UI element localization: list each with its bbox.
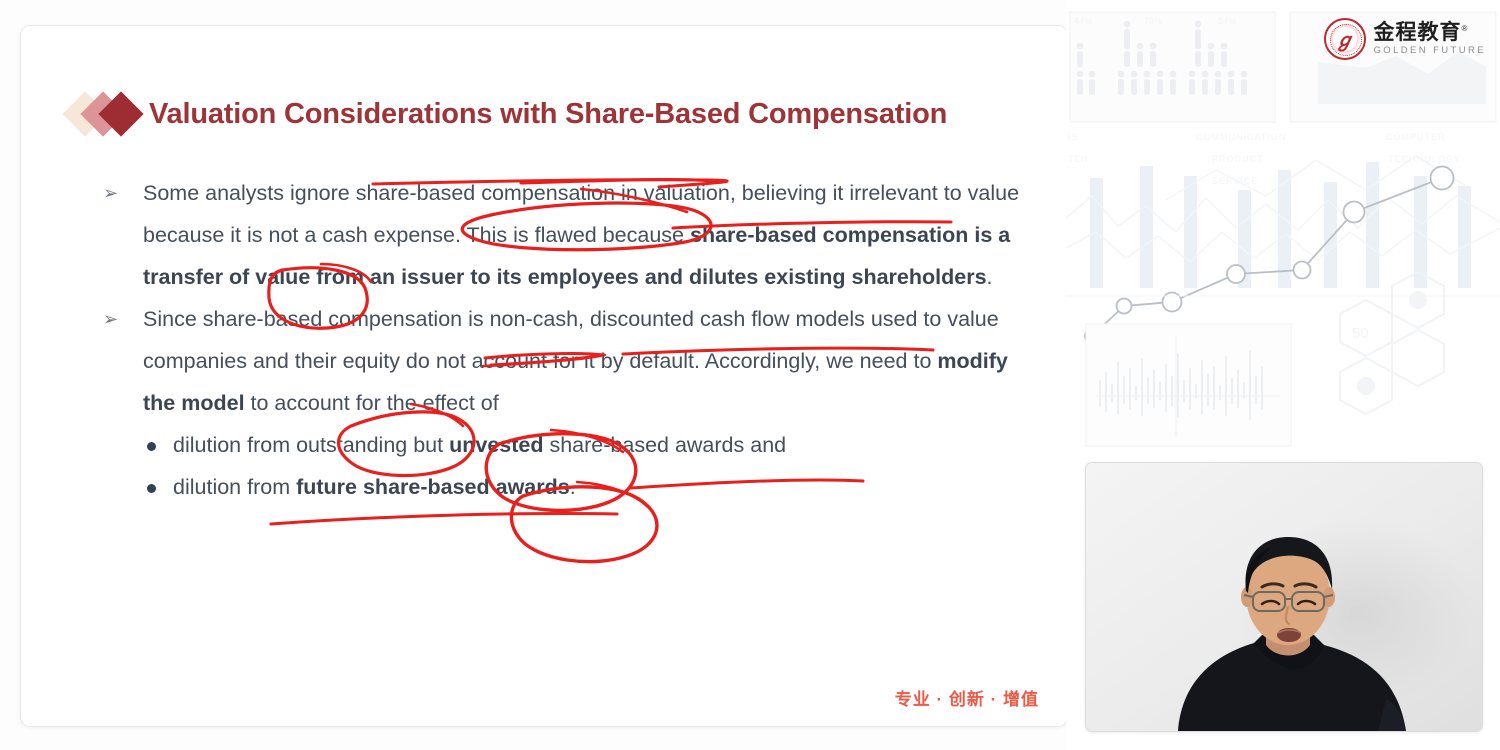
seal-icon: ℊ	[1324, 18, 1366, 60]
ink-underline-future-share-based	[271, 513, 617, 524]
brand-wordmark: 金程教育® GOLDEN FUTURE	[1374, 22, 1486, 56]
diamond-decoration-icon	[67, 88, 145, 140]
svg-text:TER: TER	[1068, 154, 1089, 164]
bullet-1-text: Some analysts ignore share-based compens…	[143, 172, 1039, 298]
svg-text:44%: 44%	[1074, 16, 1092, 26]
bullet-2-seg-2: to account for the effect of	[245, 391, 499, 415]
slide-panel: Valuation Considerations with Share-Base…	[20, 25, 1068, 727]
sub-2-seg-2: .	[570, 475, 576, 499]
bullet-item-2: ➢ Since share-based compensation is non-…	[99, 298, 1039, 424]
svg-text:PRODUCT: PRODUCT	[1212, 154, 1264, 164]
bullet-1-seg-2: .	[987, 265, 993, 289]
svg-text:COMMUNICATION: COMMUNICATION	[1196, 132, 1286, 142]
svg-text:IS: IS	[1068, 132, 1079, 142]
slide-title-row: Valuation Considerations with Share-Base…	[67, 88, 947, 140]
video-frame	[1086, 463, 1482, 731]
sub-2-seg-0: dilution from	[173, 475, 296, 499]
footer-slogan: 专业 · 创新 · 增值	[895, 685, 1039, 710]
sub-bullet-list: dilution from outstanding but unvested s…	[99, 424, 1039, 508]
slide-body: ➢ Some analysts ignore share-based compe…	[99, 172, 1039, 508]
sub-1-seg-1: unvested	[449, 433, 543, 457]
list-item: dilution from future share-based awards.	[143, 466, 1039, 508]
trademark-symbol: ®	[1462, 24, 1469, 33]
svg-text:TECHNOLOGY: TECHNOLOGY	[1388, 154, 1461, 164]
brand-name-en: GOLDEN FUTURE	[1374, 46, 1486, 56]
svg-text:SERVICE: SERVICE	[1212, 176, 1258, 186]
list-item: dilution from outstanding but unvested s…	[143, 424, 1039, 466]
svg-text:COMPUTER: COMPUTER	[1386, 132, 1446, 142]
brand-name-cn: 金程教育®	[1374, 22, 1486, 43]
right-pane: 44%70%24% IS COMMUNICATION COMPUTER TER …	[1066, 0, 1500, 750]
sub-1-seg-0: dilution from outstanding but	[173, 433, 449, 457]
sub-2-seg-1: future share-based awards	[296, 475, 570, 499]
page-title: Valuation Considerations with Share-Base…	[149, 98, 947, 131]
bullet-2-text: Since share-based compensation is non-ca…	[143, 298, 1039, 424]
svg-text:70%: 70%	[1144, 16, 1162, 26]
svg-text:50: 50	[1352, 325, 1369, 342]
background-infographic-art: 44%70%24% IS COMMUNICATION COMPUTER TER …	[1066, 0, 1500, 460]
dot-bullet-icon	[147, 484, 156, 493]
arrow-bullet-icon: ➢	[103, 298, 118, 340]
screen-root: Valuation Considerations with Share-Base…	[0, 0, 1500, 750]
presenter-video-feed[interactable]	[1085, 462, 1483, 732]
bullet-2-seg-0: Since share-based compensation is non-ca…	[143, 307, 999, 373]
brand-logo: ℊ 金程教育® GOLDEN FUTURE	[1324, 18, 1486, 60]
arrow-bullet-icon: ➢	[103, 172, 118, 214]
svg-text:24%: 24%	[1218, 16, 1236, 26]
sub-1-seg-2: share-based awards and	[543, 433, 786, 457]
dot-bullet-icon	[147, 442, 156, 451]
bullet-item-1: ➢ Some analysts ignore share-based compe…	[99, 172, 1039, 298]
